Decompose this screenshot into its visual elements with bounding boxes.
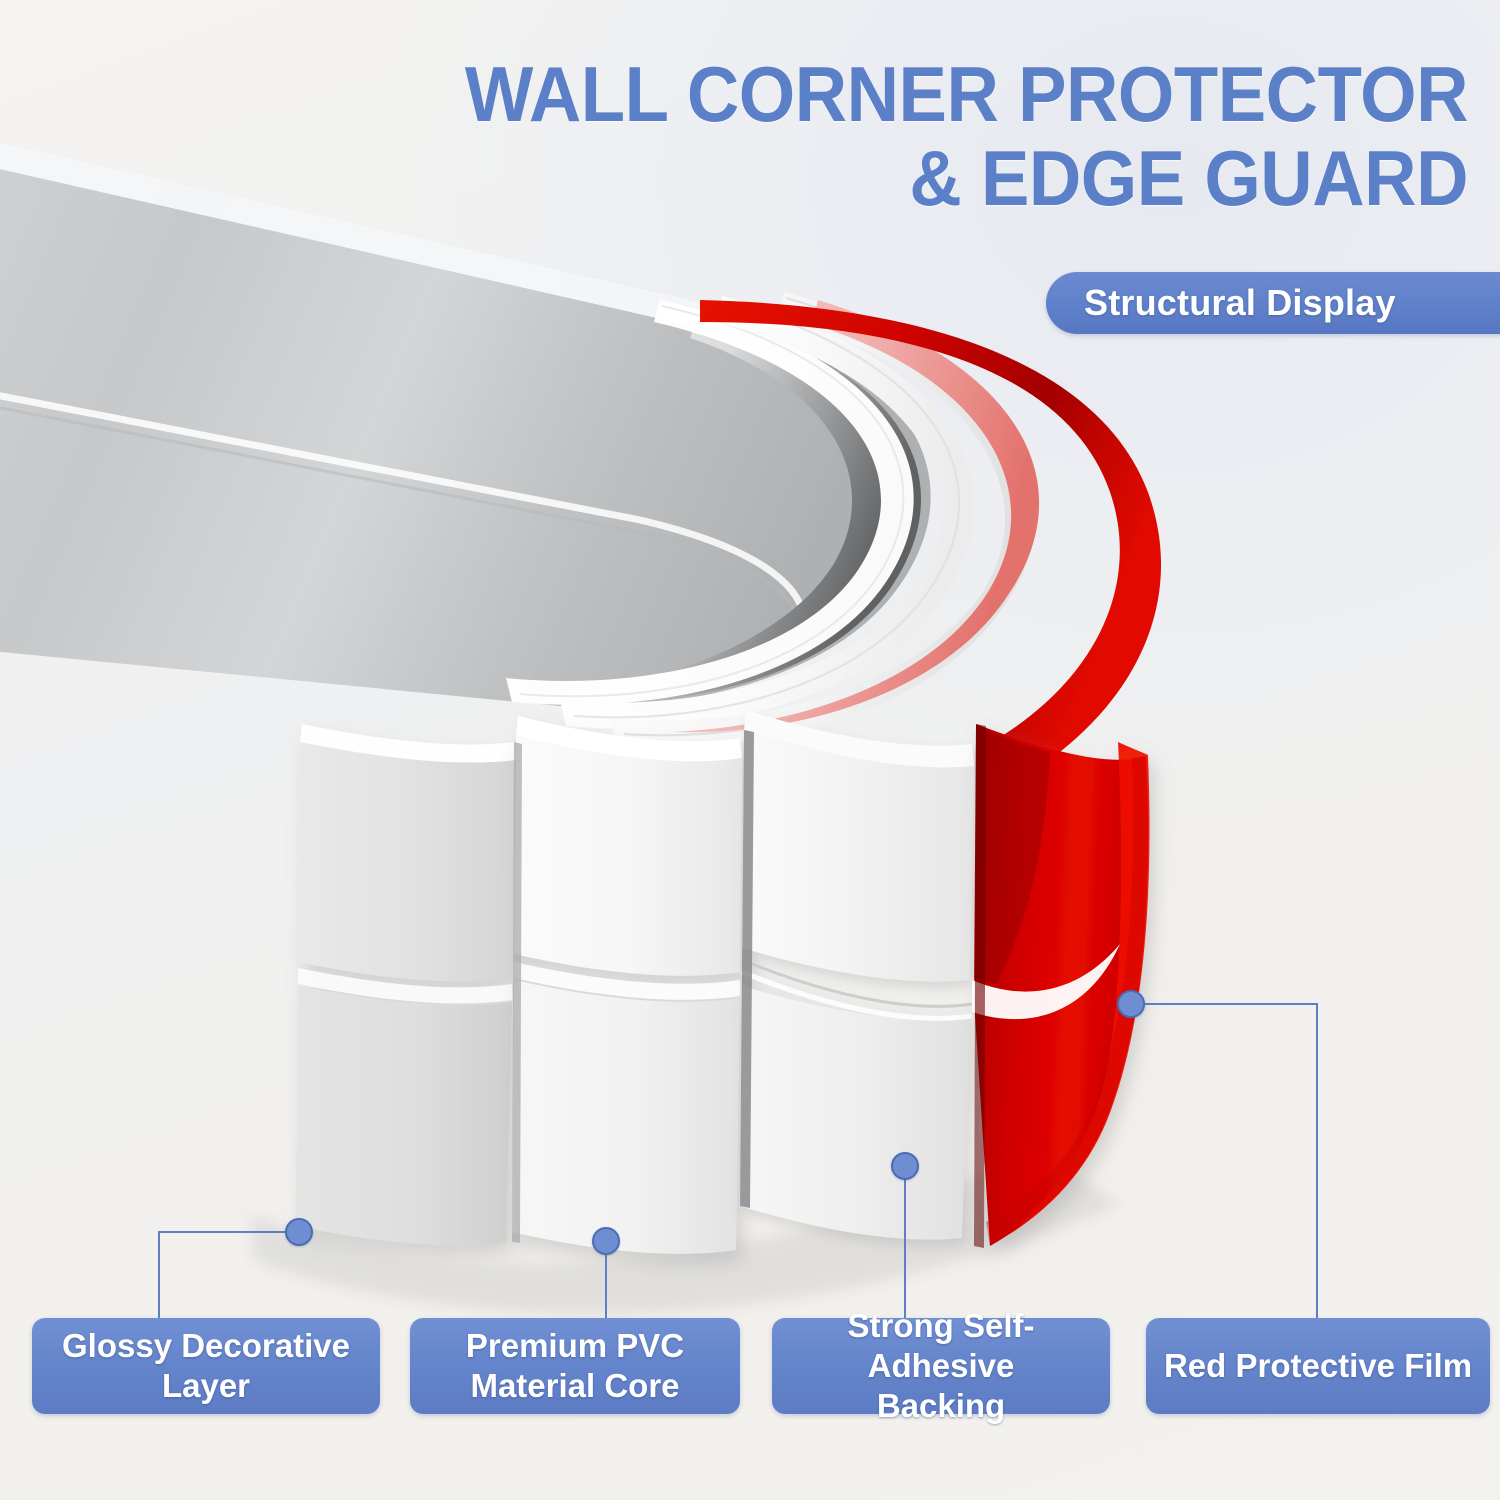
label-box-glossy-decorative-layer[interactable]: Glossy Decorative Layer	[32, 1318, 380, 1414]
leader-line-4-vertical	[1316, 1003, 1318, 1320]
structural-display-badge-label: Structural Display	[1084, 282, 1396, 324]
leader-line-1-horizontal	[158, 1231, 301, 1233]
product-illustration	[0, 0, 1500, 1500]
layer-panel-pvc-core	[512, 716, 742, 1254]
leader-line-4-horizontal	[1131, 1003, 1318, 1005]
label-text-red-protective-film: Red Protective Film	[1164, 1346, 1472, 1386]
label-text-premium-pvc-material-core: Premium PVC Material Core	[466, 1326, 684, 1406]
structural-display-badge: Structural Display	[1046, 272, 1500, 334]
infographic-canvas: WALL CORNER PROTECTOR & EDGE GUARD Struc…	[0, 0, 1500, 1500]
callout-dot-glossy-decorative-layer[interactable]	[285, 1218, 313, 1246]
label-box-strong-self-adhesive-backing[interactable]: Strong Self-Adhesive Backing	[772, 1318, 1110, 1414]
label-box-premium-pvc-material-core[interactable]: Premium PVC Material Core	[410, 1318, 740, 1414]
layer-panel-adhesive-backing	[740, 710, 974, 1240]
callout-dot-strong-self-adhesive-backing[interactable]	[891, 1152, 919, 1180]
leader-line-1-vertical	[158, 1231, 160, 1320]
label-text-glossy-decorative-layer: Glossy Decorative Layer	[62, 1326, 350, 1406]
curved-strip-upper	[0, 133, 931, 707]
label-box-red-protective-film[interactable]: Red Protective Film	[1146, 1318, 1490, 1414]
label-text-strong-self-adhesive-backing: Strong Self-Adhesive Backing	[782, 1306, 1100, 1426]
leader-line-3-vertical	[904, 1166, 906, 1320]
layer-panel-glossy-decorative	[296, 724, 516, 1245]
callout-dot-premium-pvc-material-core[interactable]	[592, 1227, 620, 1255]
callout-dot-red-protective-film[interactable]	[1117, 990, 1145, 1018]
